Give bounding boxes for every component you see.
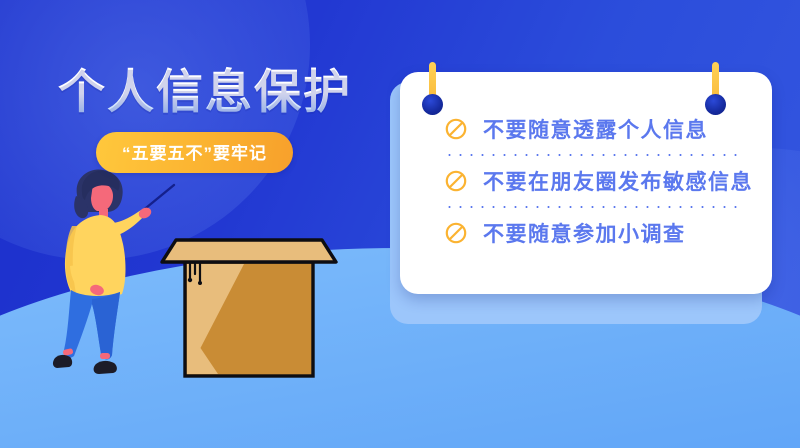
poster-canvas: 个人信息保护 “五要五不”要牢记 bbox=[0, 0, 800, 448]
list-item[interactable]: 不要在朋友圈发布敏感信息 bbox=[400, 158, 772, 204]
tips-list: 不要随意透露个人信息 不要在朋友圈发布敏感信息 bbox=[400, 106, 772, 256]
illustration-podium bbox=[158, 228, 340, 380]
prohibition-icon bbox=[444, 169, 468, 193]
list-item[interactable]: 不要随意参加小调查 bbox=[400, 210, 772, 256]
list-item-label: 不要在朋友圈发布敏感信息 bbox=[483, 166, 753, 196]
prohibition-icon bbox=[444, 221, 468, 245]
page-title: 个人信息保护 bbox=[58, 66, 352, 119]
subtitle-badge: “五要五不”要牢记 bbox=[96, 132, 293, 173]
pushpin-head bbox=[422, 94, 443, 115]
list-item-label: 不要随意参加小调查 bbox=[483, 218, 686, 248]
list-divider bbox=[444, 206, 744, 208]
prohibition-icon bbox=[444, 117, 468, 141]
list-divider bbox=[444, 154, 744, 156]
pushpin-head bbox=[705, 94, 726, 115]
list-item-label: 不要随意透露个人信息 bbox=[483, 114, 708, 144]
title-block: 个人信息保护 “五要五不”要牢记 bbox=[58, 66, 352, 173]
podium-svg bbox=[158, 228, 340, 380]
